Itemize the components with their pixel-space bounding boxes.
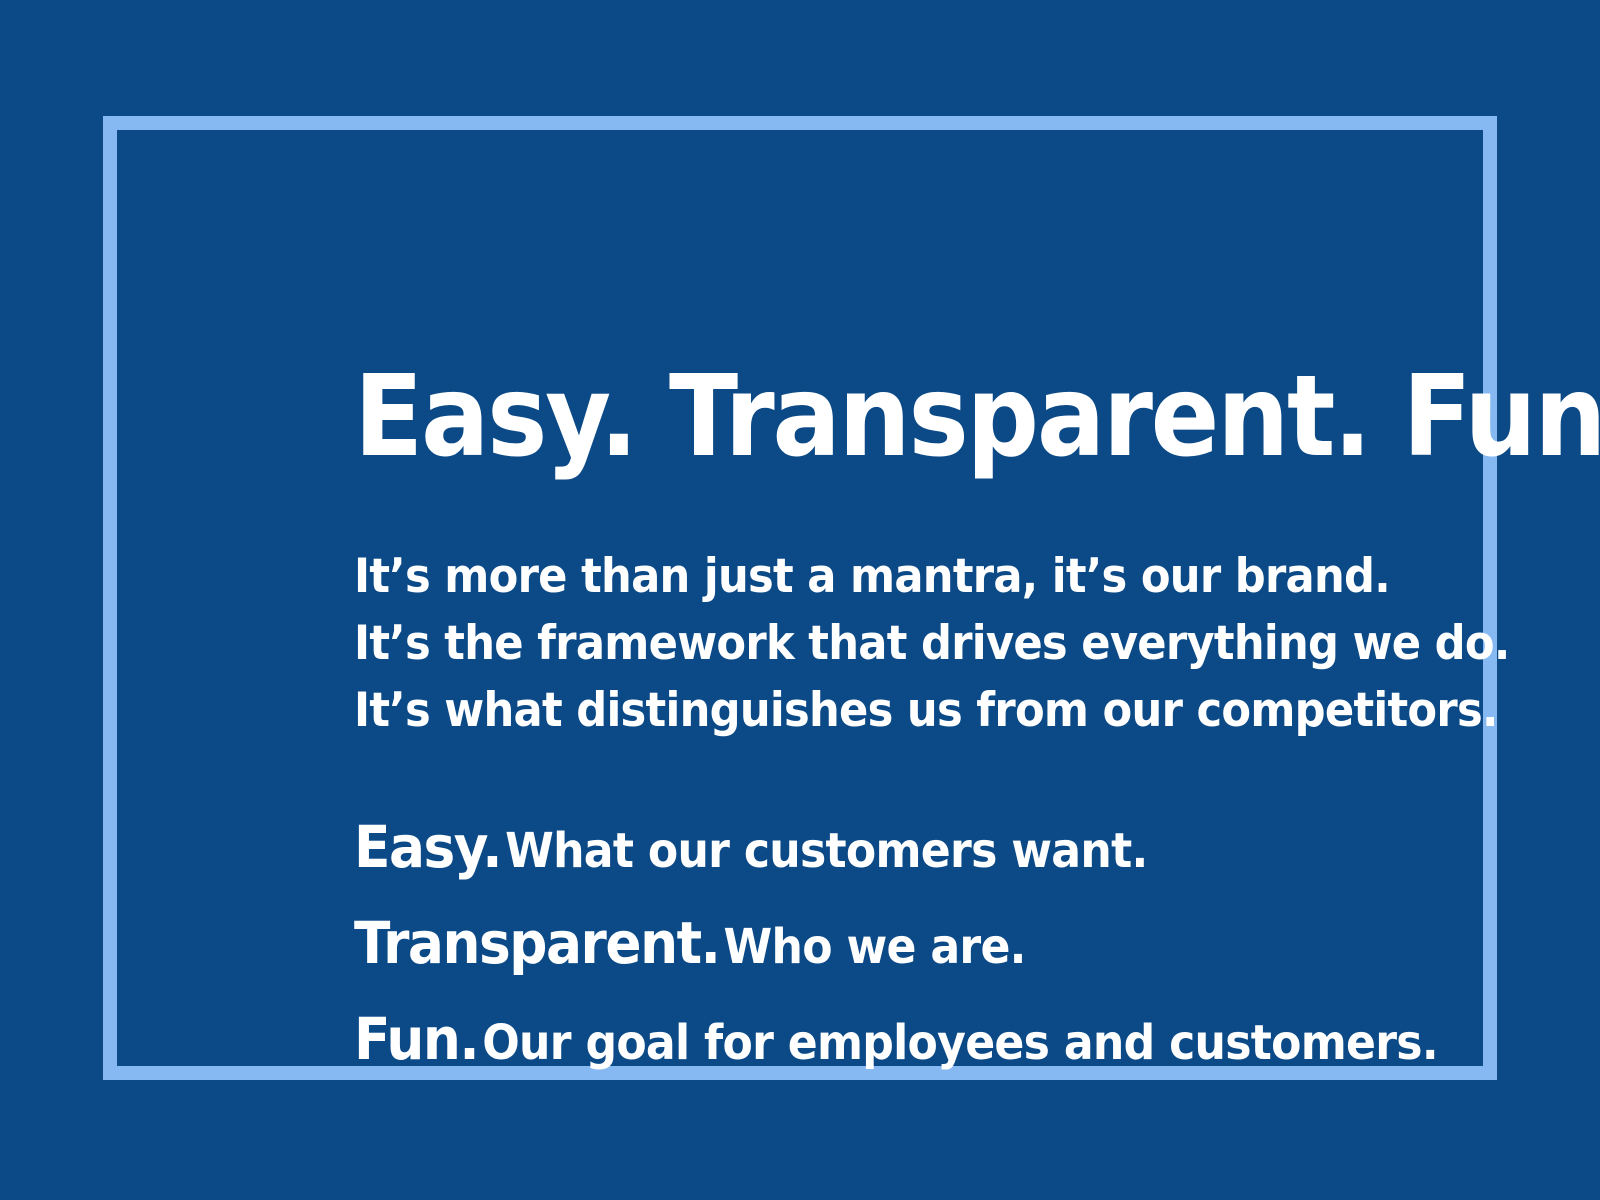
pillar-item-fun: Fun. Our goal for employees and customer… <box>354 999 1403 1095</box>
pillar-item-transparent: Transparent. Who we are. <box>354 903 1403 999</box>
intro-paragraph: It’s more than just a mantra, it’s our b… <box>354 543 1494 744</box>
page-title: Easy. Transparent. Fun. <box>354 361 1386 473</box>
intro-line-1: It’s more than just a mantra, it’s our b… <box>354 543 1403 610</box>
pillar-term-fun: Fun. <box>354 1005 478 1073</box>
pillar-description-easy: What our customers want. <box>505 823 1147 879</box>
brand-mantra-slide: Easy. Transparent. Fun. It’s more than j… <box>0 0 1600 1200</box>
pillar-description-fun: Our goal for employees and customers. <box>482 1015 1438 1071</box>
pillar-term-easy: Easy. <box>354 813 501 881</box>
intro-line-3: It’s what distinguishes us from our comp… <box>354 677 1403 744</box>
pillar-term-transparent: Transparent. <box>354 909 719 977</box>
slide-content: Easy. Transparent. Fun. It’s more than j… <box>354 361 1494 1095</box>
pillar-item-easy: Easy. What our customers want. <box>354 807 1403 903</box>
pillar-description-transparent: Who we are. <box>724 919 1026 975</box>
intro-line-2: It’s the framework that drives everythin… <box>354 610 1403 677</box>
pillar-list: Easy. What our customers want. Transpare… <box>354 807 1494 1095</box>
slide-border-frame: Easy. Transparent. Fun. It’s more than j… <box>103 116 1497 1080</box>
